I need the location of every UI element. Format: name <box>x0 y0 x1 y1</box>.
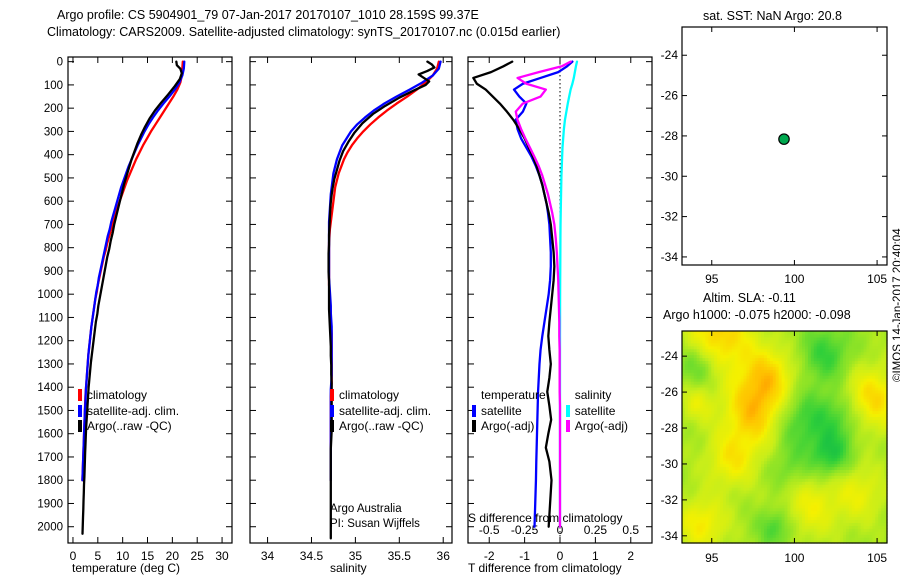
plot-frame <box>68 57 232 543</box>
x-tick-label: 25 <box>191 549 205 563</box>
y-tick-label: 900 <box>44 266 63 278</box>
x-tick-label-secondary: 0.25 <box>584 523 608 537</box>
y-tick-label: 1800 <box>37 475 63 487</box>
difference-legend: temperature satellite Argo(-adj) salinit… <box>472 388 628 435</box>
y-tick-label: 400 <box>44 150 63 162</box>
sst-map-panel: 95100105-24-26-28-30-32-34 <box>660 0 900 300</box>
legend-swatch-temperature-satellite <box>472 405 476 417</box>
y-tick-label: 100 <box>44 80 63 92</box>
y-tick-label: -34 <box>661 250 679 264</box>
y-tick-label: 1500 <box>37 405 63 417</box>
temperature-profile-plot[interactable]: 0100200300400500600700800900100011001200… <box>0 0 240 580</box>
y-tick-label: 1300 <box>37 359 63 371</box>
salinity-xaxis-label: salinity <box>330 561 367 575</box>
x-tick-label: 105 <box>867 272 887 286</box>
legend-item: satellite-adj. clim. <box>330 404 431 420</box>
x-tick-label: 34 <box>261 549 275 563</box>
y-tick-label: 600 <box>44 196 63 208</box>
legend-swatch-argo <box>78 420 82 432</box>
y-tick-label: 1700 <box>37 452 63 464</box>
difference-profile-plot[interactable]: -2-1012-0.5-0.2500.250.5 <box>460 0 660 580</box>
x-tick-label: 2 <box>627 549 634 563</box>
plot-frame <box>682 27 887 265</box>
difference-xaxis-label-temperature: T difference from climatology <box>468 561 622 575</box>
y-tick-label: 2000 <box>37 522 63 534</box>
y-tick-label: 800 <box>44 243 63 255</box>
sla-map-plot[interactable]: 95100105-24-26-28-30-32-34 <box>660 300 900 580</box>
legend-swatch-satellite <box>78 405 82 417</box>
x-tick-label: 95 <box>705 272 719 286</box>
legend-label: climatology <box>87 388 147 402</box>
x-tick-label-secondary: 0.5 <box>622 523 639 537</box>
legend-item: Argo(-adj) <box>472 419 546 435</box>
series-argo-raw-qc- <box>83 62 182 534</box>
legend-label: Argo(-adj) <box>481 419 534 433</box>
y-tick-label: 200 <box>44 103 63 115</box>
y-tick-label: 700 <box>44 219 63 231</box>
sla-heatmap-cells <box>682 331 888 544</box>
difference-legend-salinity-group: salinity satellite Argo(-adj) <box>566 388 628 435</box>
legend-item: satellite <box>566 404 628 420</box>
x-tick-label-secondary: -0.5 <box>479 523 500 537</box>
legend-item: Argo(..raw -QC) <box>330 419 431 435</box>
y-tick-label: 1100 <box>38 312 63 324</box>
legend-item: Argo(-adj) <box>566 419 628 435</box>
series-temperature-argo-adj- <box>473 62 554 527</box>
y-tick-label: 1000 <box>37 289 63 301</box>
series-argo-raw-qc- <box>329 62 435 539</box>
legend-swatch-satellite <box>330 405 334 417</box>
y-tick-label: 1400 <box>37 382 63 394</box>
temperature-profile-panel: 0100200300400500600700800900100011001200… <box>0 0 240 580</box>
legend-group-title: salinity <box>575 388 628 404</box>
legend-swatch-salinity-argo <box>566 420 570 432</box>
difference-xaxis-label-salinity: S difference from climatology <box>468 511 623 525</box>
series-salinity-argo-adj- <box>516 62 571 527</box>
y-tick-label: 1900 <box>37 498 63 510</box>
legend-item: satellite <box>472 404 546 420</box>
legend-item: climatology <box>330 388 431 404</box>
y-tick-label: -24 <box>661 48 679 62</box>
legend-label: satellite-adj. clim. <box>339 404 431 418</box>
difference-legend-temperature-group: temperature satellite Argo(-adj) <box>472 388 546 435</box>
legend-label: Argo(..raw -QC) <box>339 419 424 433</box>
sla-map-panel: 95100105-24-26-28-30-32-34 <box>660 300 900 580</box>
legend-swatch-temperature-argo <box>472 420 476 432</box>
legend-group-title: temperature <box>481 388 546 404</box>
salinity-legend: climatology satellite-adj. clim. Argo(..… <box>330 388 431 435</box>
y-tick-label: -32 <box>661 210 679 224</box>
legend-swatch-salinity-satellite <box>566 405 570 417</box>
y-tick-label: 300 <box>44 126 63 138</box>
x-tick-label: 30 <box>215 549 229 563</box>
legend-item: satellite-adj. clim. <box>78 404 179 420</box>
y-tick-label: -28 <box>661 129 679 143</box>
y-tick-label: -30 <box>661 169 679 183</box>
legend-swatch-climatology <box>78 389 82 401</box>
legend-label: satellite-adj. clim. <box>87 404 179 418</box>
temperature-legend: climatology satellite-adj. clim. Argo(..… <box>78 388 179 435</box>
legend-label: Argo(..raw -QC) <box>87 419 172 433</box>
series-salinity-satellite <box>560 62 577 527</box>
attribution-line1: Argo Australia <box>330 503 402 515</box>
salinity-profile-panel: 3434.53535.536 <box>240 0 460 580</box>
legend-label: satellite <box>575 404 616 418</box>
y-tick-label: 1600 <box>37 429 63 441</box>
x-tick-label: 34.5 <box>300 549 324 563</box>
difference-profile-panel: -2-1012-0.5-0.2500.250.5 <box>460 0 660 580</box>
attribution-line2: PI: Susan Wijffels <box>330 518 420 530</box>
y-tick-label: 0 <box>57 57 63 69</box>
x-tick-label: 35.5 <box>388 549 412 563</box>
y-tick-label: 1200 <box>37 336 63 348</box>
legend-swatch-argo <box>330 420 334 432</box>
x-tick-label: 100 <box>784 272 804 286</box>
temperature-xaxis-label: temperature (deg C) <box>72 561 180 575</box>
x-tick-label: 36 <box>437 549 451 563</box>
sst-map-plot[interactable]: 95100105-24-26-28-30-32-34 <box>660 0 900 300</box>
legend-label: climatology <box>339 388 399 402</box>
legend-item: climatology <box>78 388 179 404</box>
legend-label: Argo(-adj) <box>575 419 628 433</box>
legend-swatch-climatology <box>330 389 334 401</box>
legend-label: satellite <box>481 404 522 418</box>
y-tick-label: -26 <box>661 89 679 103</box>
salinity-profile-plot[interactable]: 3434.53535.536 <box>240 0 460 580</box>
y-tick-label: 500 <box>44 173 63 185</box>
argo-float-marker[interactable] <box>779 134 789 144</box>
legend-item: Argo(..raw -QC) <box>78 419 179 435</box>
